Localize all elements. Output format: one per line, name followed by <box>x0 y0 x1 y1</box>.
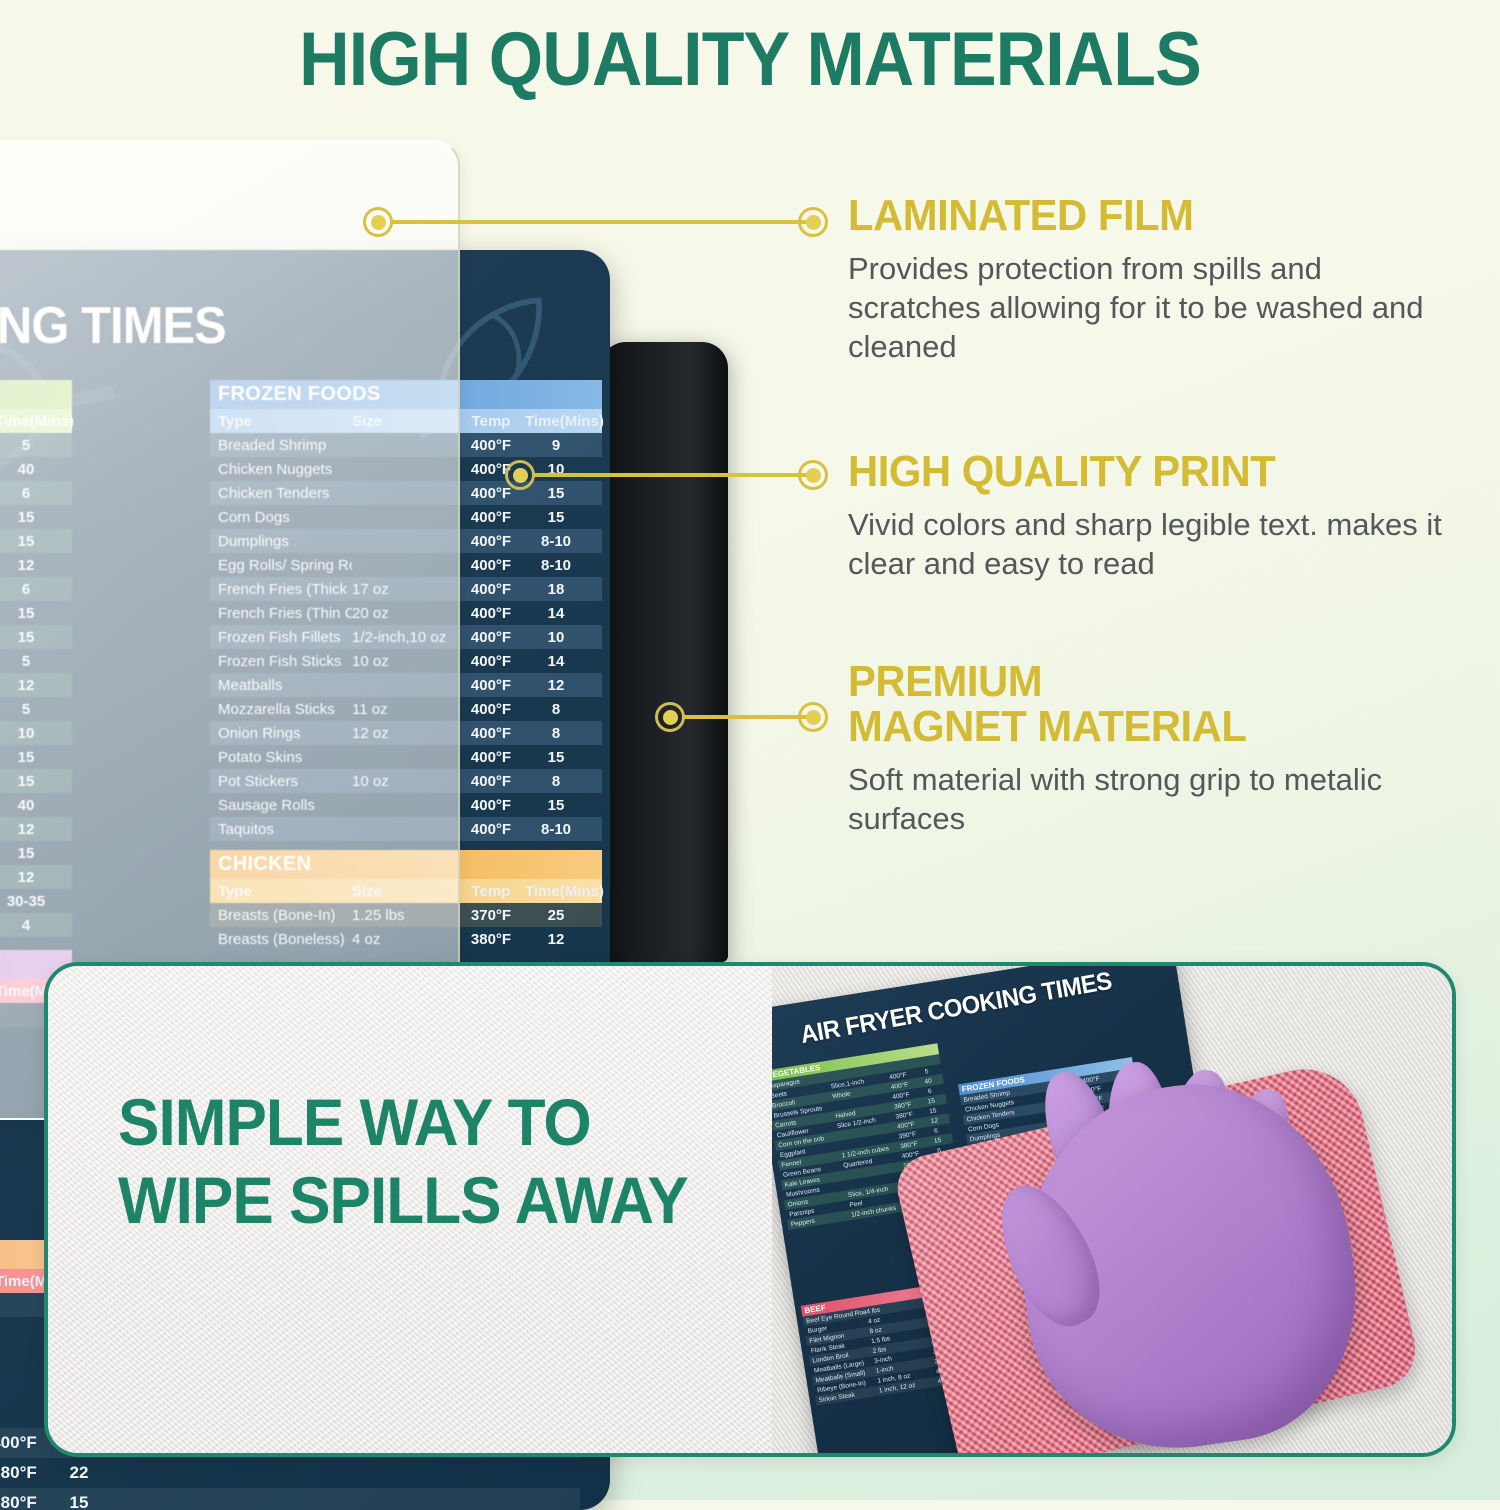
cell-time: 18 <box>525 581 587 598</box>
feature-high-quality-print: HIGH QUALITY PRINT Vivid colors and shar… <box>848 450 1448 583</box>
feature-heading-line2: MAGNET MATERIAL <box>848 702 1246 751</box>
cell-time: 8-10 <box>525 533 587 550</box>
feature-heading: PREMIUM MAGNET MATERIAL <box>848 660 1418 750</box>
cell-temp: 400°F <box>0 1433 48 1453</box>
cell-time: 12 <box>525 677 587 694</box>
cell-temp: 400°F <box>457 509 525 526</box>
panel-heading-line1: SIMPLE WAY TO <box>118 1085 591 1159</box>
callout-dot-print-target <box>798 460 828 490</box>
callout-dot-magnet-source <box>655 702 685 732</box>
cell-time: 8 <box>525 773 587 790</box>
cell-temp: 400°F <box>457 653 525 670</box>
cell-time: 15 <box>525 749 587 766</box>
cell-time: 15 <box>525 485 587 502</box>
cell-temp: 400°F <box>457 605 525 622</box>
callout-line-magnet <box>682 715 808 719</box>
cell-time: 22 <box>48 1463 110 1483</box>
cell-time: 14 <box>525 653 587 670</box>
cell-time: 9 <box>525 437 587 454</box>
panel-heading-line2: WIPE SPILLS AWAY <box>118 1163 688 1237</box>
cell-time: 8-10 <box>525 821 587 838</box>
cell-time: 8-10 <box>525 557 587 574</box>
cell-temp: 380°F <box>0 1463 48 1483</box>
cell-temp: 380°F <box>0 1493 48 1510</box>
panel-heading: SIMPLE WAY TO WIPE SPILLS AWAY <box>118 1084 688 1240</box>
cell-temp: 380°F <box>457 931 525 948</box>
feature-heading: LAMINATED FILM <box>848 194 1418 239</box>
cell-temp: 400°F <box>457 629 525 646</box>
cell-time: 8 <box>525 701 587 718</box>
cell-temp: 400°F <box>457 557 525 574</box>
col-temp: Temp <box>457 883 525 900</box>
feature-heading-line1: PREMIUM <box>848 657 1042 706</box>
col-time: Time(Mins) <box>525 413 587 430</box>
magnet-backing <box>600 342 728 962</box>
feature-laminated-film: LAMINATED FILM Provides protection from … <box>848 194 1448 366</box>
cell-temp: 400°F <box>457 677 525 694</box>
callout-line-print <box>532 473 808 477</box>
feature-body: Soft material with strong grip to metali… <box>848 760 1448 838</box>
feature-body: Provides protection from spills and scra… <box>848 249 1448 366</box>
feature-body: Vivid colors and sharp legible text. mak… <box>848 505 1448 583</box>
feature-premium-magnet-material: PREMIUM MAGNET MATERIAL Soft material wi… <box>848 660 1448 838</box>
cell-temp: 400°F <box>457 581 525 598</box>
col-temp: Temp <box>457 413 525 430</box>
cell-time: 14 <box>525 605 587 622</box>
wipe-demo-photo: AIR FRYER COOKING TIMES VEGETABLES Aspar… <box>772 966 1452 1453</box>
cell-temp: 400°F <box>457 773 525 790</box>
cell-temp: 400°F <box>457 533 525 550</box>
cell-temp: 400°F <box>457 749 525 766</box>
cell-time: 12 <box>525 931 587 948</box>
page-title: HIGH QUALITY MATERIALS <box>60 22 1440 98</box>
callout-dot-laminated-target <box>798 207 828 237</box>
cell-temp: 400°F <box>457 821 525 838</box>
cell-time: 15 <box>48 1493 110 1510</box>
cell-temp: 400°F <box>457 701 525 718</box>
cell-time: 25 <box>525 907 587 924</box>
cell-temp: 400°F <box>457 725 525 742</box>
cell-time: 10 <box>525 629 587 646</box>
callout-line-laminated <box>390 220 808 224</box>
feature-heading: HIGH QUALITY PRINT <box>848 450 1418 495</box>
callout-dot-laminated-source <box>363 207 393 237</box>
cell-temp: 400°F <box>457 797 525 814</box>
table-row: Rack of Lamb2 lbs380°F22 <box>0 1458 580 1488</box>
wipe-spills-panel: SIMPLE WAY TO WIPE SPILLS AWAY AIR FRYER… <box>44 962 1456 1457</box>
cell-temp: 370°F <box>457 907 525 924</box>
cell-time: 15 <box>525 509 587 526</box>
callout-dot-print-source <box>505 460 535 490</box>
poster-stage: HIGH QUALITY MATERIALS FRYER COOKING TIM… <box>0 0 1500 1500</box>
cell-time: 15 <box>525 797 587 814</box>
table-row: Sausage380°F15 <box>0 1488 580 1510</box>
callout-dot-magnet-target <box>798 702 828 732</box>
col-time: Time(Mins) <box>525 883 587 900</box>
cell-temp: 400°F <box>457 437 525 454</box>
cell-time: 8 <box>525 725 587 742</box>
